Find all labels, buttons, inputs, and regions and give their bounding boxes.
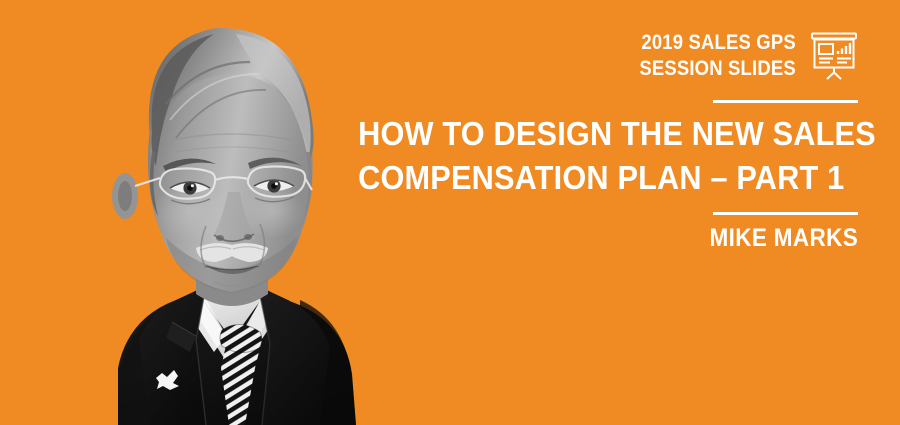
divider-bottom [713, 212, 858, 215]
deck-label: 2019 SALES GPS SESSION SLIDES [639, 30, 796, 82]
deck-label-row: 2019 SALES GPS SESSION SLIDES [618, 30, 858, 82]
speaker-portrait [0, 0, 380, 425]
deck-label-line2: SESSION SLIDES [639, 56, 796, 82]
page-title-line2: COMPENSATION PLAN – PART 1 [358, 156, 840, 200]
page-title-line1: HOW TO DESIGN THE NEW SALES [358, 112, 840, 156]
deck-label-line1: 2019 SALES GPS [639, 30, 796, 56]
slide-canvas: 2019 SALES GPS SESSION SLIDES [0, 0, 900, 425]
slide-content: 2019 SALES GPS SESSION SLIDES [340, 0, 900, 425]
divider-top [713, 100, 858, 103]
presentation-board-icon [810, 31, 858, 81]
page-title: HOW TO DESIGN THE NEW SALES COMPENSATION… [358, 112, 840, 200]
speaker-name: MIKE MARKS [709, 224, 858, 253]
